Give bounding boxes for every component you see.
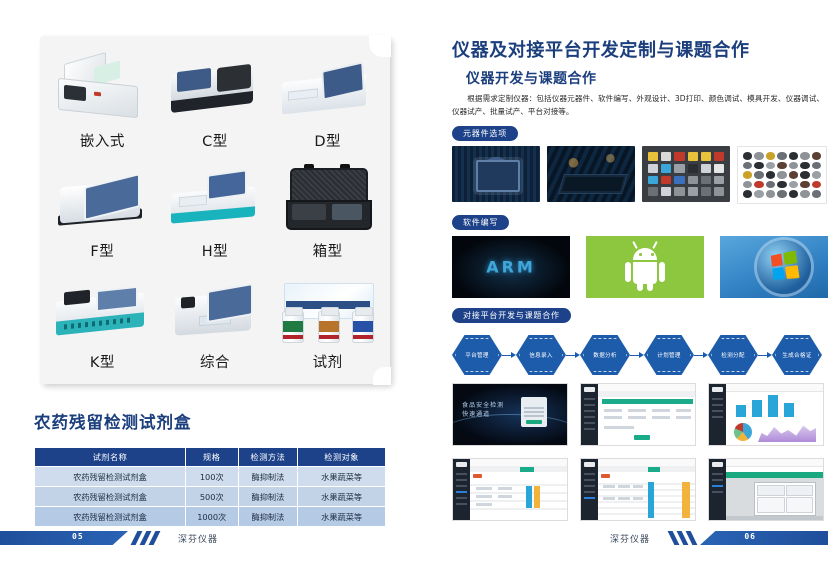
product-label: 嵌入式 bbox=[80, 130, 125, 151]
f-type-device-image bbox=[50, 166, 154, 238]
product-label: 试剂 bbox=[313, 351, 343, 372]
intro-paragraph: 根据需求定制仪器：包括仪器元器件、软件编写、外观设计、3D打印、颜色调试、模具开… bbox=[452, 92, 824, 119]
column-header-method: 检测方法 bbox=[238, 448, 298, 467]
column-header-name: 试剂名称 bbox=[35, 448, 186, 467]
arrow-right-icon bbox=[758, 351, 772, 359]
flow-step-6[interactable]: 生成合格证 bbox=[772, 335, 822, 375]
table-row: 农药残留检测试剂盒 100次 酶抑制法 水果蔬菜等 bbox=[35, 467, 386, 487]
c-type-device-image bbox=[163, 56, 267, 128]
electronic-parts-dark-photo bbox=[642, 146, 730, 202]
product-card-case-type[interactable]: 箱型 bbox=[271, 155, 384, 266]
d-type-device-image bbox=[276, 56, 380, 128]
product-card-h-type[interactable]: H型 bbox=[159, 155, 272, 266]
reagent-kit-table: 试剂名称 规格 检测方法 检测对象 农药残留检测试剂盒 100次 酶抑制法 水果… bbox=[34, 447, 386, 527]
flow-step-label: 检测分配 bbox=[721, 351, 745, 359]
cell-name: 农药残留检测试剂盒 bbox=[35, 487, 186, 507]
electronic-parts-white-photo bbox=[737, 146, 827, 204]
product-label: 箱型 bbox=[313, 240, 343, 261]
product-card-reagent[interactable]: 试剂 bbox=[271, 265, 384, 376]
cell-spec: 100次 bbox=[185, 467, 238, 487]
badge-components: 元器件选项 bbox=[452, 126, 518, 141]
circuit-board-photo bbox=[547, 146, 635, 202]
product-card-integrated[interactable]: 综合 bbox=[159, 265, 272, 376]
report-detail-screen[interactable] bbox=[708, 458, 824, 521]
platform-screenshot-grid: 食品安全检测 快速通道 bbox=[452, 383, 824, 521]
product-card-k-type[interactable]: K型 bbox=[46, 265, 159, 376]
left-page: 嵌入式 C型 D型 bbox=[0, 0, 414, 562]
form-entry-screen[interactable] bbox=[580, 383, 696, 446]
microchip-photo bbox=[452, 146, 540, 202]
page-number: 05 bbox=[72, 532, 84, 541]
hero-line-2: 快速通道 bbox=[462, 411, 504, 420]
page-number-bar bbox=[0, 531, 128, 545]
h-type-device-image bbox=[163, 166, 267, 238]
reagent-kit-image bbox=[276, 277, 380, 349]
embedded-device-image bbox=[50, 56, 154, 128]
right-page: 仪器及对接平台开发定制与课题合作 仪器开发与课题合作 根据需求定制仪器：包括仪器… bbox=[414, 0, 828, 562]
arrow-right-icon bbox=[694, 351, 708, 359]
cell-spec: 1000次 bbox=[185, 507, 238, 527]
windows-logo-icon bbox=[720, 236, 828, 298]
product-card-c-type[interactable]: C型 bbox=[159, 44, 272, 155]
flow-step-2[interactable]: 信息录入 bbox=[516, 335, 566, 375]
flow-step-1[interactable]: 平台管理 bbox=[452, 335, 502, 375]
flow-step-4[interactable]: 计划管理 bbox=[644, 335, 694, 375]
arm-logo-text: ARM bbox=[452, 258, 570, 277]
product-card-embedded[interactable]: 嵌入式 bbox=[46, 44, 159, 155]
software-logo-row: ARM bbox=[452, 236, 828, 298]
flow-step-label: 生成合格证 bbox=[782, 351, 811, 359]
android-logo-icon bbox=[586, 236, 704, 298]
cell-target: 水果蔬菜等 bbox=[298, 467, 386, 487]
process-flow: 平台管理 信息录入 数据分析 计划管理 检测分配 生成合格证 bbox=[452, 333, 824, 377]
hero-line-1: 食品安全检测 bbox=[462, 402, 504, 411]
flow-step-label: 信息录入 bbox=[529, 351, 553, 359]
table-row: 农药残留检测试剂盒 500次 酶抑制法 水果蔬菜等 bbox=[35, 487, 386, 507]
page-number-bar bbox=[700, 531, 828, 545]
slash-decoration-icon bbox=[658, 531, 694, 545]
product-label: F型 bbox=[90, 240, 114, 261]
product-gallery-panel: 嵌入式 C型 D型 bbox=[40, 36, 390, 384]
arrow-right-icon bbox=[630, 351, 644, 359]
column-header-spec: 规格 bbox=[185, 448, 238, 467]
table-header-row: 试剂名称 规格 检测方法 检测对象 bbox=[35, 448, 386, 467]
flow-step-label: 平台管理 bbox=[465, 351, 489, 359]
login-hero-screen[interactable]: 食品安全检测 快速通道 bbox=[452, 383, 568, 446]
arm-logo-icon: ARM bbox=[452, 236, 570, 298]
product-label: H型 bbox=[202, 240, 228, 261]
product-card-d-type[interactable]: D型 bbox=[271, 44, 384, 155]
column-header-target: 检测对象 bbox=[298, 448, 386, 467]
cell-method: 酶抑制法 bbox=[238, 507, 298, 527]
badge-platform: 对接平台开发与课题合作 bbox=[452, 308, 571, 323]
arrow-right-icon bbox=[566, 351, 580, 359]
left-page-footer: 05 深芬仪器 bbox=[0, 531, 230, 545]
cell-name: 农药残留检测试剂盒 bbox=[35, 507, 186, 527]
flow-step-3[interactable]: 数据分析 bbox=[580, 335, 630, 375]
product-label: K型 bbox=[90, 351, 115, 372]
cell-name: 农药残留检测试剂盒 bbox=[35, 467, 186, 487]
case-type-device-image bbox=[276, 166, 380, 238]
section-subtitle: 仪器开发与课题合作 bbox=[466, 68, 597, 88]
kit-section-title: 农药残留检测试剂盒 bbox=[34, 409, 192, 433]
flow-step-5[interactable]: 检测分配 bbox=[708, 335, 758, 375]
arrow-right-icon bbox=[502, 351, 516, 359]
table-row: 农药残留检测试剂盒 1000次 酶抑制法 水果蔬菜等 bbox=[35, 507, 386, 527]
data-table-screen[interactable] bbox=[580, 458, 696, 521]
product-label: D型 bbox=[314, 130, 341, 151]
component-image-row bbox=[452, 146, 827, 204]
cell-target: 水果蔬菜等 bbox=[298, 487, 386, 507]
cell-target: 水果蔬菜等 bbox=[298, 507, 386, 527]
flow-step-label: 数据分析 bbox=[593, 351, 617, 359]
k-type-device-image bbox=[50, 277, 154, 349]
page-title: 仪器及对接平台开发定制与课题合作 bbox=[452, 36, 750, 62]
product-label: 综合 bbox=[200, 351, 230, 372]
cell-method: 酶抑制法 bbox=[238, 467, 298, 487]
badge-software: 软件编写 bbox=[452, 215, 509, 230]
integrated-device-image bbox=[163, 277, 267, 349]
brand-name: 深芬仪器 bbox=[178, 532, 218, 545]
cell-method: 酶抑制法 bbox=[238, 487, 298, 507]
product-card-f-type[interactable]: F型 bbox=[46, 155, 159, 266]
product-grid: 嵌入式 C型 D型 bbox=[46, 44, 384, 376]
brand-name: 深芬仪器 bbox=[610, 532, 650, 545]
page-number: 06 bbox=[744, 532, 756, 541]
record-list-screen[interactable] bbox=[452, 458, 568, 521]
slash-decoration-icon bbox=[134, 531, 170, 545]
flow-step-label: 计划管理 bbox=[657, 351, 681, 359]
cell-spec: 500次 bbox=[185, 487, 238, 507]
dashboard-charts-screen[interactable] bbox=[708, 383, 824, 446]
product-label: C型 bbox=[202, 130, 228, 151]
brochure-spread: 嵌入式 C型 D型 bbox=[0, 0, 828, 562]
right-page-footer: 06 深芬仪器 bbox=[598, 531, 828, 545]
